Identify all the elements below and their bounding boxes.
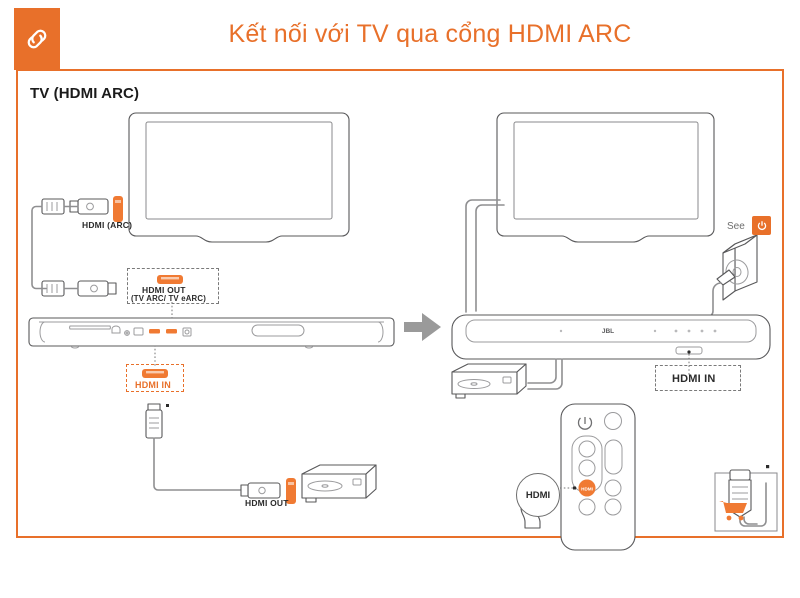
section-title: TV (HDMI ARC) [30,85,139,102]
player-hdmi-out-label: HDMI OUT [245,498,289,508]
see-label: See [727,221,745,232]
footer-bar: 1800.0042 hdradio.vn [0,545,800,598]
hdmi-arc-label: HDMI (ARC) [82,220,132,230]
power-icon [752,216,771,235]
hdmi-in-label-left: HDMI IN [135,380,171,390]
screenshot-root: Kết nối với TV qua cổng HDMI ARC TV (HDM… [0,0,800,598]
page-title: Kết nối với TV qua cổng HDMI ARC [120,20,740,49]
hdmi-in-label-right: HDMI IN [672,373,716,385]
hdmi-callout-label: HDMI [526,490,550,501]
link-chain-icon [14,8,60,70]
hdmi-callout-bubble: HDMI [516,473,560,517]
hdmi-out-sublabel: (TV ARC/ TV eARC) [131,294,206,303]
